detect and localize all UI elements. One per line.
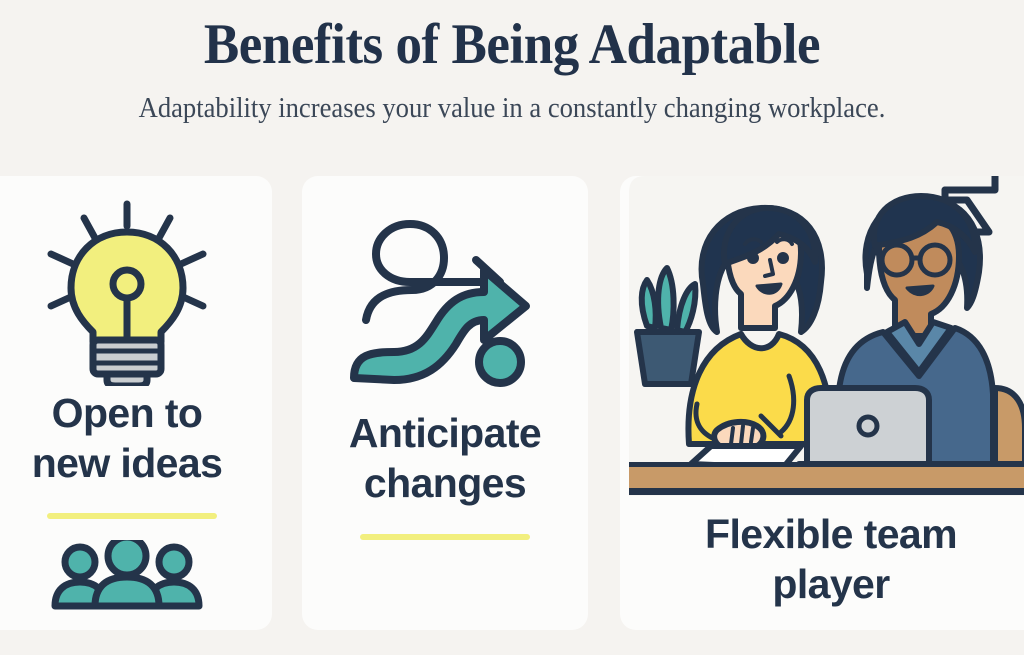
card-label-line2: new ideas: [0, 438, 272, 488]
benefit-card-open-to-new-ideas[interactable]: Open to new ideas: [0, 176, 272, 630]
curved-arrows-icon: [350, 214, 540, 389]
card-label: Anticipate changes: [302, 408, 588, 508]
card-divider: [47, 513, 217, 519]
card-label-line2: player: [620, 559, 1024, 609]
lightbulb-icon: [27, 196, 227, 386]
header: Benefits of Being Adaptable Adaptability…: [0, 0, 1024, 165]
card-label: Flexible team player: [620, 509, 1024, 609]
card-label-line1: Open to: [0, 388, 272, 438]
card-label-line1: Flexible team: [620, 509, 1024, 559]
infographic-canvas: Benefits of Being Adaptable Adaptability…: [0, 0, 1024, 655]
page-title: Benefits of Being Adaptable: [36, 12, 988, 78]
people-group-icon: [37, 540, 217, 610]
card-divider: [360, 534, 530, 540]
two-coworkers-at-desk-illustration: [620, 176, 1024, 496]
card-label-line1: Anticipate: [302, 408, 588, 458]
card-label: Open to new ideas: [0, 388, 272, 488]
card-label-line2: changes: [302, 458, 588, 508]
benefit-card-anticipate-changes[interactable]: Anticipate changes: [302, 176, 588, 630]
page-subtitle: Adaptability increases your value in a c…: [26, 92, 999, 126]
